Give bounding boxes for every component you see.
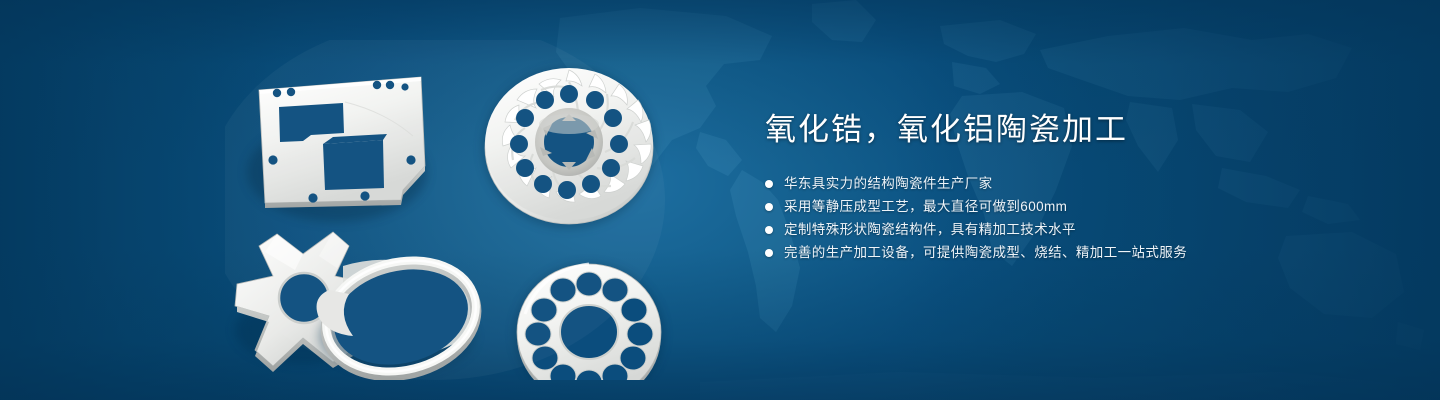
list-item: 定制特殊形状陶瓷结构件，具有精加工技术水平 xyxy=(765,218,1385,241)
ceramic-processing-banner: 氧化锆，氧化铝陶瓷加工 华东具实力的结构陶瓷件生产厂家 采用等静压成型工艺，最大… xyxy=(0,0,1440,400)
list-item: 华东具实力的结构陶瓷件生产厂家 xyxy=(765,172,1385,195)
bullet-text: 华东具实力的结构陶瓷件生产厂家 xyxy=(784,172,993,195)
banner-copy-block: 氧化锆，氧化铝陶瓷加工 华东具实力的结构陶瓷件生产厂家 采用等静压成型工艺，最大… xyxy=(765,108,1385,264)
bullet-text: 定制特殊形状陶瓷结构件，具有精加工技术水平 xyxy=(784,218,1076,241)
bullet-dot-icon xyxy=(765,203,773,211)
bullet-dot-icon xyxy=(765,180,773,188)
feature-bullet-list: 华东具实力的结构陶瓷件生产厂家 采用等静压成型工艺，最大直径可做到600mm 定… xyxy=(765,172,1385,264)
bullet-text: 采用等静压成型工艺，最大直径可做到600mm xyxy=(784,195,1067,218)
bullet-dot-icon xyxy=(765,226,773,234)
list-item: 完善的生产加工设备，可提供陶瓷成型、烧结、精加工一站式服务 xyxy=(765,241,1385,264)
bullet-dot-icon xyxy=(765,249,773,257)
ceramic-products-image xyxy=(225,40,705,380)
banner-headline: 氧化锆，氧化铝陶瓷加工 xyxy=(765,108,1385,152)
list-item: 采用等静压成型工艺，最大直径可做到600mm xyxy=(765,195,1385,218)
bullet-text: 完善的生产加工设备，可提供陶瓷成型、烧结、精加工一站式服务 xyxy=(784,241,1187,264)
